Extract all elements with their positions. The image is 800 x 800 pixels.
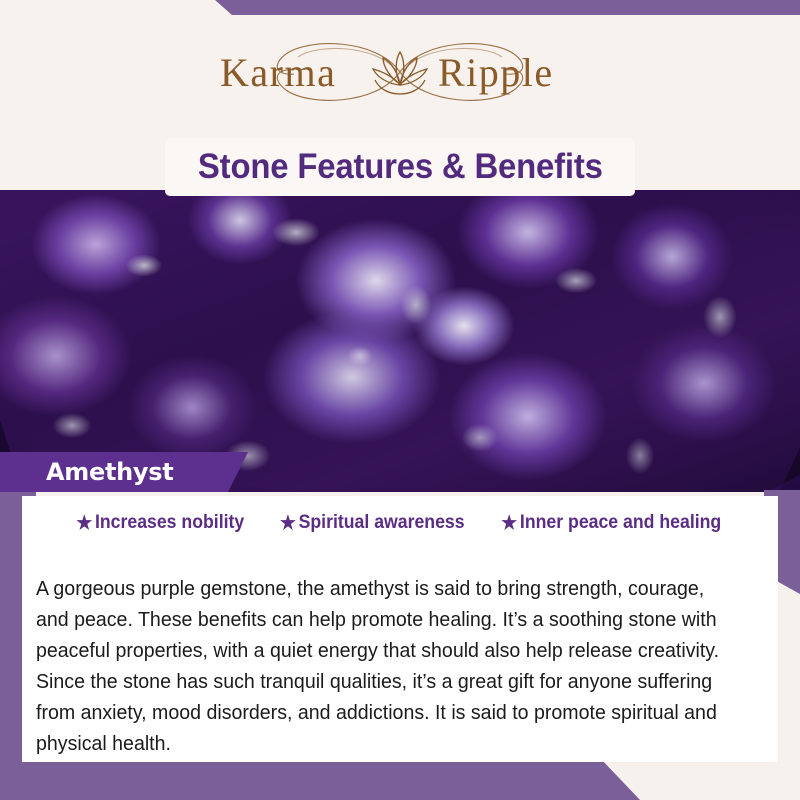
stone-name-label: Amethyst bbox=[0, 458, 173, 486]
stone-name-banner: Amethyst bbox=[0, 452, 248, 492]
brand-logo: Karma Ripple bbox=[0, 32, 800, 112]
page-title-plaque: Stone Features & Benefits bbox=[165, 138, 635, 196]
page-title: Stone Features & Benefits bbox=[198, 147, 603, 187]
hero-image-amethyst bbox=[0, 190, 800, 492]
star-icon: ★ bbox=[280, 514, 296, 533]
feature-label: Spiritual awareness bbox=[298, 512, 464, 534]
feature-item: ★ Spiritual awareness bbox=[280, 512, 465, 534]
stone-description: A gorgeous purple gemstone, the amethyst… bbox=[36, 573, 739, 759]
star-icon: ★ bbox=[502, 514, 518, 533]
frame-bottom-bar bbox=[0, 758, 800, 800]
feature-label: Increases nobility bbox=[95, 512, 244, 534]
feature-item: ★ Inner peace and healing bbox=[502, 512, 722, 534]
brand-name-left: Karma bbox=[220, 50, 336, 95]
brand-name-right: Ripple bbox=[438, 50, 554, 95]
content-card: ★ Increases nobility ★ Spiritual awarene… bbox=[22, 496, 778, 762]
logo-svg: Karma Ripple bbox=[190, 32, 610, 112]
feature-item: ★ Increases nobility bbox=[77, 512, 245, 534]
hero-image-vignette bbox=[0, 190, 800, 492]
feature-label: Inner peace and healing bbox=[520, 512, 721, 534]
feature-list: ★ Increases nobility ★ Spiritual awarene… bbox=[22, 512, 778, 534]
star-icon: ★ bbox=[77, 514, 93, 533]
product-info-card: Karma Ripple Stone Features & Benefits A… bbox=[0, 0, 800, 800]
